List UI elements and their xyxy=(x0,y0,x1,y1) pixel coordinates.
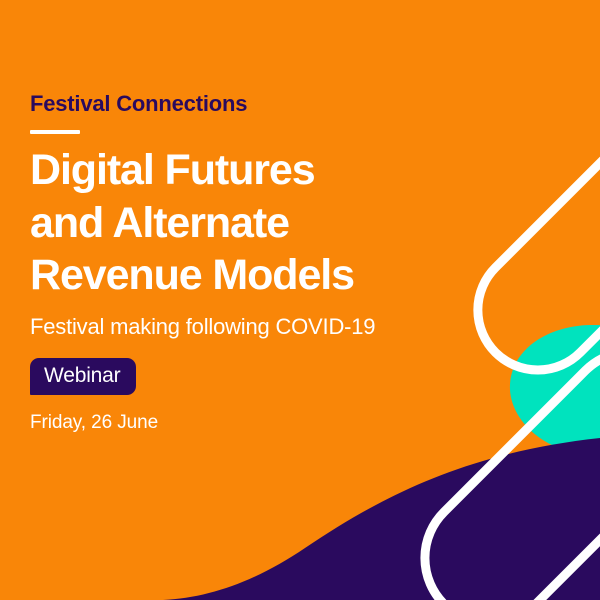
subtitle-text: Festival making following COVID-19 xyxy=(30,314,450,340)
badge-container: Webinar xyxy=(30,358,450,395)
headline-line-2: and Alternate xyxy=(30,197,450,249)
headline-line-1: Digital Futures xyxy=(30,144,450,196)
card-content: Festival Connections Digital Futures and… xyxy=(30,92,450,434)
kicker-text: Festival Connections xyxy=(30,92,450,116)
white-capsule-outline-upper xyxy=(453,98,600,395)
page-title: Digital Futures and Alternate Revenue Mo… xyxy=(30,144,450,301)
navy-diagonal-corner xyxy=(163,438,600,600)
status-badge: Webinar xyxy=(30,358,136,395)
event-date: Friday, 26 June xyxy=(30,412,450,434)
divider-rule xyxy=(30,130,80,134)
teal-rounded-shape xyxy=(510,325,600,455)
headline-line-3: Revenue Models xyxy=(30,249,450,301)
promo-card: Festival Connections Digital Futures and… xyxy=(0,0,600,600)
